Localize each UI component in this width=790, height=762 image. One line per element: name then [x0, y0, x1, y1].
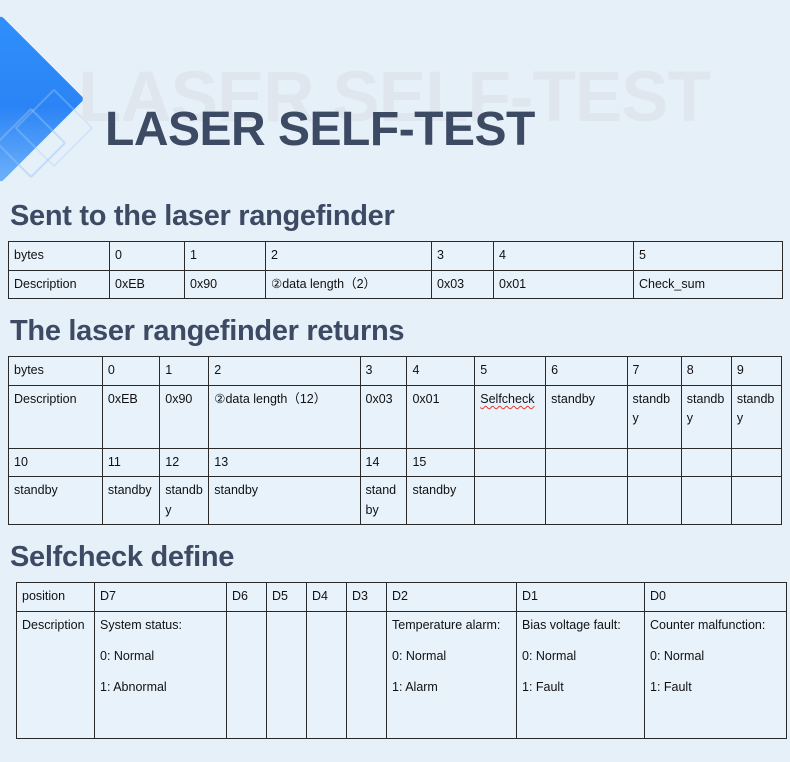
cell-desc-2: ②data length（2）	[266, 270, 432, 298]
cell-byte-index-10: 10	[9, 448, 103, 476]
page-banner: LASER SELF-TEST LASER SELF-TEST	[0, 0, 790, 200]
cell-desc-4: 0x01	[494, 270, 634, 298]
cell-byte-index-2: 2	[266, 242, 432, 270]
cell-byte-index-3: 3	[432, 242, 494, 270]
cell-empty-2	[546, 448, 627, 476]
cell-byte-index-2: 2	[209, 357, 360, 385]
cell-desc-d0: Counter malfunction: 0: Normal 1: Fault	[645, 611, 787, 738]
cell-bit-d4: D4	[307, 583, 347, 611]
cell-desc-2: ②data length（12）	[209, 385, 360, 448]
table-row: 10 11 12 13 14 15	[9, 448, 782, 476]
desc-line: 1: Fault	[650, 678, 781, 697]
table-row: Description 0xEB 0x90 ②data length（2） 0x…	[9, 270, 783, 298]
cell-byte-index-1: 1	[160, 357, 209, 385]
section-sent-to-rangefinder: Sent to the laser rangefinder bytes 0 1 …	[8, 200, 782, 299]
cell-empty-4	[681, 448, 731, 476]
cell-desc-6: standby	[546, 385, 627, 448]
page-title: LASER SELF-TEST	[105, 106, 535, 154]
cell-byte-index-5: 5	[634, 242, 783, 270]
cell-byte-index-8: 8	[681, 357, 731, 385]
cell-desc-5-selfcheck: Selfcheck	[475, 385, 546, 448]
cell-desc-14: standby	[360, 477, 407, 525]
cell-desc-1: 0x90	[185, 270, 266, 298]
cell-desc-d4	[307, 611, 347, 738]
cell-byte-index-3: 3	[360, 357, 407, 385]
cell-empty-7	[546, 477, 627, 525]
desc-line: 1: Alarm	[392, 678, 511, 697]
desc-line: 1: Abnormal	[100, 678, 221, 697]
table-row: bytes 0 1 2 3 4 5	[9, 242, 783, 270]
selfcheck-misspelled-text: Selfcheck	[480, 392, 534, 406]
cell-desc-4: 0x01	[407, 385, 475, 448]
cell-description-label: Description	[9, 385, 103, 448]
desc-line: System status:	[100, 616, 221, 635]
table-sent-to-rangefinder: bytes 0 1 2 3 4 5 Description 0xEB 0x90 …	[8, 241, 783, 299]
page-content: Sent to the laser rangefinder bytes 0 1 …	[0, 200, 790, 739]
cell-byte-index-4: 4	[494, 242, 634, 270]
cell-byte-index-13: 13	[209, 448, 360, 476]
cell-empty-8	[627, 477, 681, 525]
desc-line: 0: Normal	[650, 647, 781, 666]
cell-bit-d1: D1	[517, 583, 645, 611]
cell-desc-9: standby	[731, 385, 781, 448]
cell-empty-9	[681, 477, 731, 525]
cell-desc-3: 0x03	[360, 385, 407, 448]
cell-empty-3	[627, 448, 681, 476]
table-selfcheck-define: position D7 D6 D5 D4 D3 D2 D1 D0 Descrip…	[16, 582, 787, 738]
section-heading-returns: The laser rangefinder returns	[8, 315, 782, 348]
cell-byte-index-15: 15	[407, 448, 475, 476]
cell-byte-index-0: 0	[102, 357, 159, 385]
cell-desc-5: Check_sum	[634, 270, 783, 298]
cell-desc-d1: Bias voltage fault: 0: Normal 1: Fault	[517, 611, 645, 738]
cell-desc-1: 0x90	[160, 385, 209, 448]
cell-bit-d7: D7	[95, 583, 227, 611]
cell-desc-d5	[267, 611, 307, 738]
table-row: Description 0xEB 0x90 ②data length（12） 0…	[9, 385, 782, 448]
cell-byte-index-5: 5	[475, 357, 546, 385]
cell-bytes-label: bytes	[9, 357, 103, 385]
cell-desc-13: standby	[209, 477, 360, 525]
cell-empty-5	[731, 448, 781, 476]
cell-empty-1	[475, 448, 546, 476]
section-heading-sent: Sent to the laser rangefinder	[8, 200, 782, 233]
desc-line: Counter malfunction:	[650, 616, 781, 635]
cell-desc-0: 0xEB	[102, 385, 159, 448]
table-row: Description System status: 0: Normal 1: …	[17, 611, 787, 738]
cell-byte-index-4: 4	[407, 357, 475, 385]
cell-bit-d2: D2	[387, 583, 517, 611]
cell-desc-10: standby	[9, 477, 103, 525]
desc-line: 0: Normal	[522, 647, 639, 666]
cell-bit-d3: D3	[347, 583, 387, 611]
section-rangefinder-returns: The laser rangefinder returns bytes 0 1 …	[8, 315, 782, 525]
cell-byte-index-9: 9	[731, 357, 781, 385]
cell-bytes-label: bytes	[9, 242, 110, 270]
desc-line: Bias voltage fault:	[522, 616, 639, 635]
table-row: position D7 D6 D5 D4 D3 D2 D1 D0	[17, 583, 787, 611]
section-heading-selfcheck: Selfcheck define	[8, 541, 782, 574]
cell-byte-index-7: 7	[627, 357, 681, 385]
cell-byte-index-14: 14	[360, 448, 407, 476]
desc-line: 0: Normal	[100, 647, 221, 666]
table-row: standby standby standby standby standby …	[9, 477, 782, 525]
cell-byte-index-11: 11	[102, 448, 159, 476]
cell-empty-6	[475, 477, 546, 525]
cell-desc-d6	[227, 611, 267, 738]
banner-title-group: LASER SELF-TEST LASER SELF-TEST	[78, 62, 778, 182]
cell-desc-15: standby	[407, 477, 475, 525]
desc-line: Temperature alarm:	[392, 616, 511, 635]
desc-line: 0: Normal	[392, 647, 511, 666]
cell-byte-index-0: 0	[110, 242, 185, 270]
cell-byte-index-1: 1	[185, 242, 266, 270]
cell-byte-index-12: 12	[160, 448, 209, 476]
cell-description-label: Description	[17, 611, 95, 738]
cell-byte-index-6: 6	[546, 357, 627, 385]
cell-desc-d7: System status: 0: Normal 1: Abnormal	[95, 611, 227, 738]
table-row: bytes 0 1 2 3 4 5 6 7 8 9	[9, 357, 782, 385]
cell-desc-3: 0x03	[432, 270, 494, 298]
cell-bit-d0: D0	[645, 583, 787, 611]
cell-desc-8: standby	[681, 385, 731, 448]
cell-desc-d2: Temperature alarm: 0: Normal 1: Alarm	[387, 611, 517, 738]
cell-desc-7: standby	[627, 385, 681, 448]
cell-position-label: position	[17, 583, 95, 611]
section-selfcheck-define: Selfcheck define position D7 D6 D5 D4 D3…	[8, 541, 782, 739]
desc-line: 1: Fault	[522, 678, 639, 697]
cell-bit-d6: D6	[227, 583, 267, 611]
cell-bit-d5: D5	[267, 583, 307, 611]
cell-desc-d3	[347, 611, 387, 738]
cell-desc-0: 0xEB	[110, 270, 185, 298]
cell-desc-12: standby	[160, 477, 209, 525]
cell-empty-10	[731, 477, 781, 525]
cell-description-label: Description	[9, 270, 110, 298]
cell-desc-11: standby	[102, 477, 159, 525]
table-rangefinder-returns: bytes 0 1 2 3 4 5 6 7 8 9 Description 0x…	[8, 356, 782, 525]
